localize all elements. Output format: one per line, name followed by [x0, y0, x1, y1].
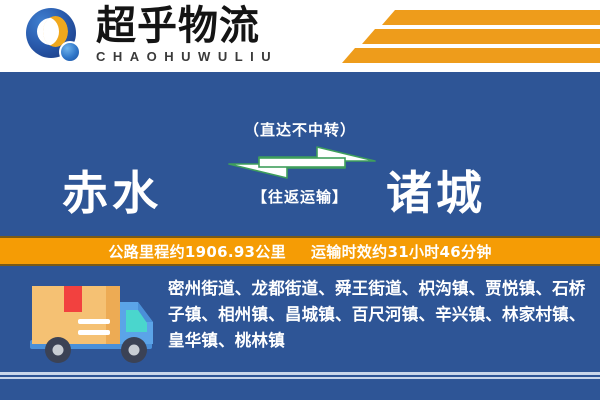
coverage-section: 密州街道、龙都街道、舜王街道、枳沟镇、贾悦镇、石桥子镇、相州镇、昌城镇、百尺河镇… [0, 266, 600, 400]
delivery-truck-icon [22, 274, 162, 374]
logistics-route-banner: 超乎物流 CHAOHUWULIU 赤水 （直达不中转） 【往返运输】 诸城 公路… [0, 0, 600, 400]
banner-header: 超乎物流 CHAOHUWULIU [0, 0, 600, 72]
road-line-upper [0, 372, 600, 375]
route-section: 赤水 （直达不中转） 【往返运输】 诸城 [0, 72, 600, 236]
chaohu-circle-logo-icon [26, 8, 84, 66]
direct-shipping-note: （直达不中转） [0, 119, 600, 140]
header-stripe-1 [382, 10, 600, 25]
bidirectional-arrow-icon [225, 145, 380, 180]
round-trip-note: 【往返运输】 [0, 186, 600, 207]
brand-name-cn: 超乎物流 [96, 4, 336, 48]
logo-dot-shape [59, 41, 81, 63]
duration-text: 运输时效约31小时46分钟 [311, 243, 492, 261]
header-stripes-decoration [330, 0, 600, 72]
brand-name-en: CHAOHUWULIU [96, 49, 336, 64]
brand-block: 超乎物流 CHAOHUWULIU [96, 4, 336, 64]
coverage-area-text: 密州街道、龙都街道、舜王街道、枳沟镇、贾悦镇、石桥子镇、相州镇、昌城镇、百尺河镇… [168, 276, 588, 354]
info-bar-content: 公路里程约1906.93公里 运输时效约31小时46分钟 [108, 241, 491, 262]
road-line-lower [0, 377, 600, 379]
header-stripe-3 [342, 48, 600, 63]
destination-city-label: 诸城 [386, 157, 486, 223]
header-stripe-2 [362, 29, 600, 44]
route-info-bar: 公路里程约1906.93公里 运输时效约31小时46分钟 [0, 236, 600, 266]
distance-text: 公路里程约1906.93公里 [108, 243, 286, 261]
